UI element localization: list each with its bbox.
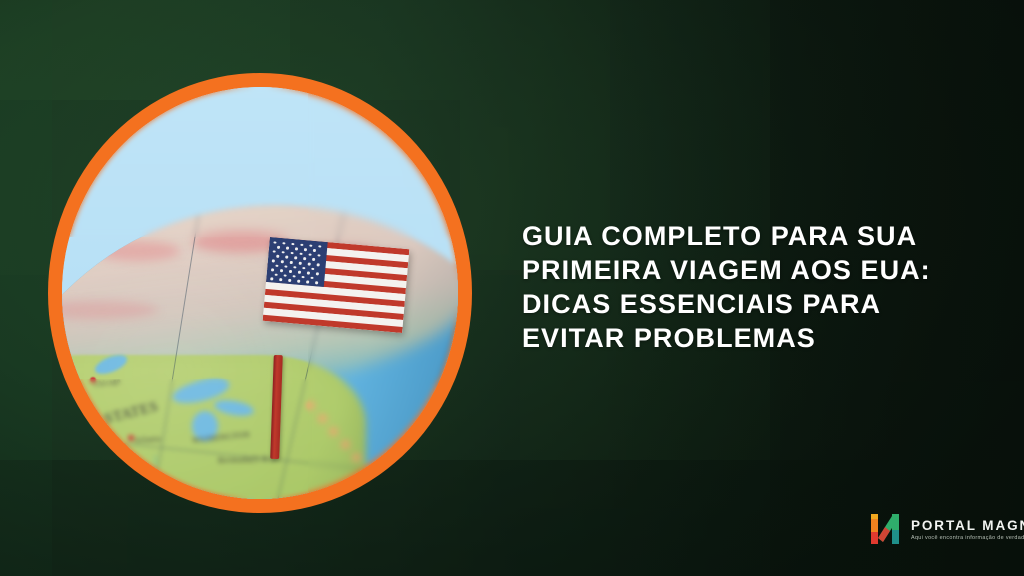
portal-magnific-mark-icon	[868, 510, 902, 548]
flag-star	[293, 275, 296, 278]
flag-star	[311, 277, 314, 280]
flag-star	[282, 251, 285, 254]
flag-star	[270, 278, 273, 281]
flag-star	[294, 257, 297, 260]
usa-flag-icon	[263, 237, 410, 333]
flag-star	[307, 272, 310, 275]
flag-star	[312, 258, 315, 261]
flag-star	[288, 279, 291, 282]
map-bead	[306, 401, 315, 410]
flag-star	[289, 270, 292, 273]
flag-star	[291, 252, 294, 255]
brand-logo[interactable]: PORTAL MAGNIFIC Aqui você encontra infor…	[868, 510, 1024, 548]
flag-star	[295, 248, 298, 251]
flag-star	[309, 244, 312, 247]
flag-star	[317, 263, 320, 266]
globe-photo: UNITEDSTATESChicagoAtlantaHoustonMiamiMe…	[62, 87, 458, 499]
map-bead	[364, 466, 373, 475]
title-line-4: EVITAR PROBLEMAS	[522, 321, 967, 355]
slide-title: GUIA COMPLETO PARA SUA PRIMEIRA VIAGEM A…	[522, 219, 967, 355]
flag-star	[277, 246, 280, 249]
map-bead	[375, 479, 384, 488]
flag-star	[298, 271, 301, 274]
flag-star	[281, 260, 284, 263]
flag-star	[277, 255, 280, 258]
flag-star	[284, 274, 287, 277]
flag-star	[286, 247, 289, 250]
flag-star	[317, 254, 320, 257]
globe-photo-ring: UNITEDSTATESChicagoAtlantaHoustonMiamiMe…	[48, 73, 472, 513]
flag-star	[291, 243, 294, 246]
flag-star	[285, 265, 288, 268]
flag-star	[300, 243, 303, 246]
flag-star	[282, 242, 285, 245]
map-bead	[341, 440, 350, 449]
flag-star	[286, 256, 289, 259]
flag-star	[279, 278, 282, 281]
flag-star	[271, 268, 274, 271]
map-bead	[318, 414, 327, 423]
flag-star	[306, 281, 309, 284]
flag-star	[313, 249, 316, 252]
logo-tagline: Aqui você encontra informação de verdade	[911, 535, 1024, 541]
flag-star	[294, 266, 297, 269]
flag-star	[276, 264, 279, 267]
flag-star	[290, 261, 293, 264]
flag-star	[318, 245, 321, 248]
map-bead	[387, 492, 396, 499]
title-line-3: DICAS ESSENCIAIS PARA	[522, 287, 967, 321]
flag-star	[299, 262, 302, 265]
flag-star	[312, 267, 315, 270]
flag-star	[275, 273, 278, 276]
flag-star	[280, 269, 283, 272]
map-bead	[352, 453, 361, 462]
map-label: Atlanta	[134, 434, 162, 445]
flag-star	[297, 280, 300, 283]
slide-canvas: UNITEDSTATESChicagoAtlantaHoustonMiamiMe…	[0, 0, 1024, 576]
map-bead	[329, 427, 338, 436]
flag-star	[299, 253, 302, 256]
flag-star	[272, 259, 275, 262]
flag-canton	[266, 237, 328, 287]
title-line-2: PRIMEIRA VIAGEM AOS EUA:	[522, 253, 967, 287]
logo-name: PORTAL MAGNIFIC	[911, 518, 1024, 533]
flag-star	[304, 248, 307, 251]
flag-star	[316, 272, 319, 275]
flag-star	[303, 257, 306, 260]
flag-star	[308, 262, 311, 265]
flag-star	[273, 250, 276, 253]
flag-star	[302, 276, 305, 279]
flag-star	[273, 241, 276, 244]
flag-star	[308, 253, 311, 256]
title-line-1: GUIA COMPLETO PARA SUA	[522, 219, 967, 253]
flag-star	[315, 282, 318, 285]
flag-star	[303, 267, 306, 270]
